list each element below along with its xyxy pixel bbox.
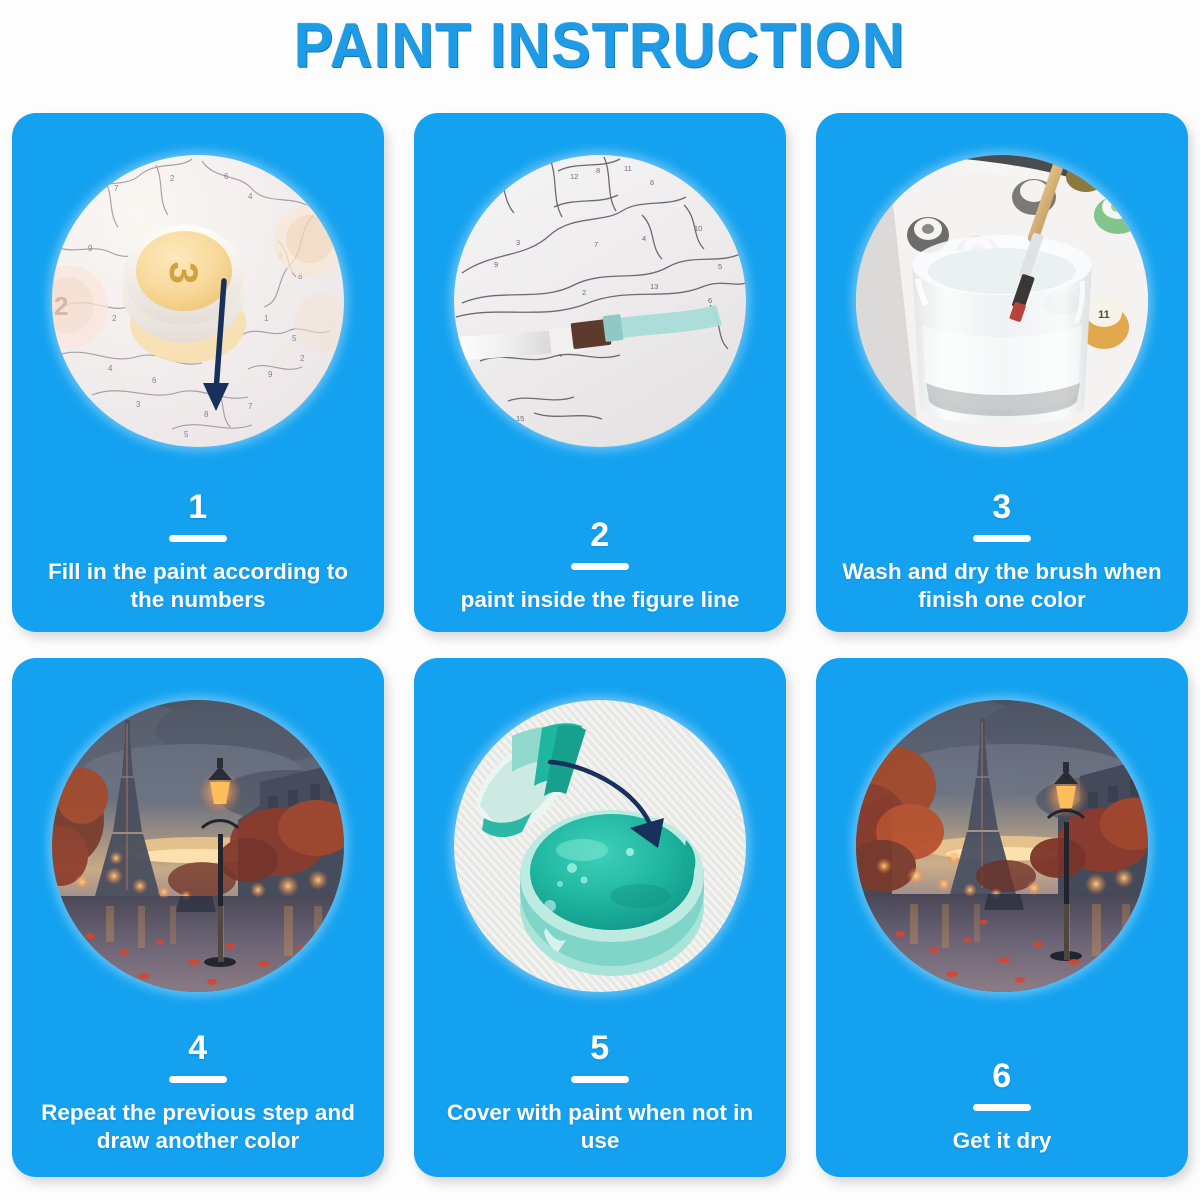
step-card-4[interactable]: 4 Repeat the previous step and draw anot… bbox=[12, 658, 384, 1177]
step-number: 3 bbox=[992, 490, 1011, 524]
step-card-5[interactable]: 5 Cover with paint when not in use bbox=[414, 658, 786, 1177]
step-1-meta: 1 Fill in the paint according to the num… bbox=[12, 490, 384, 614]
step-2-photo: 128 116 39 74 105 213 69 415 73 bbox=[454, 155, 746, 447]
step-6-photo bbox=[856, 700, 1148, 992]
svg-text:7: 7 bbox=[114, 184, 119, 193]
paint-pot-illustration bbox=[454, 700, 746, 992]
step-card-2[interactable]: 128 116 39 74 105 213 69 415 73 bbox=[414, 113, 786, 632]
step-5-photo bbox=[454, 700, 746, 992]
svg-text:4: 4 bbox=[248, 192, 253, 201]
brush-illustration: 128 116 39 74 105 213 69 415 73 bbox=[454, 155, 746, 447]
pot-number-label: 3 bbox=[161, 261, 206, 285]
svg-text:2: 2 bbox=[54, 291, 68, 321]
step-card-3[interactable]: 11 bbox=[816, 113, 1188, 632]
svg-text:9: 9 bbox=[268, 370, 273, 379]
step-divider bbox=[169, 535, 227, 542]
svg-text:13: 13 bbox=[650, 282, 658, 291]
step-divider bbox=[571, 563, 629, 570]
svg-text:12: 12 bbox=[570, 172, 578, 181]
step-divider bbox=[973, 1104, 1031, 1111]
svg-text:7: 7 bbox=[248, 402, 253, 411]
svg-text:2: 2 bbox=[582, 288, 586, 297]
step-4-photo-wrap bbox=[52, 700, 344, 992]
step-number: 2 bbox=[590, 518, 609, 552]
step-divider bbox=[571, 1076, 629, 1083]
step-caption: Repeat the previous step and draw anothe… bbox=[33, 1099, 363, 1155]
step-3-photo-wrap: 11 bbox=[856, 155, 1148, 447]
step-card-6[interactable]: 6 Get it dry bbox=[816, 658, 1188, 1177]
step-caption: paint inside the figure line bbox=[461, 586, 740, 614]
steps-grid: 72 64 95 38 27 15 46 92 38 75 bbox=[12, 113, 1188, 1185]
svg-text:8: 8 bbox=[596, 166, 600, 175]
svg-text:3: 3 bbox=[678, 428, 682, 437]
svg-text:11: 11 bbox=[1098, 309, 1110, 321]
svg-text:2: 2 bbox=[170, 174, 175, 183]
page-title: PAINT INSTRUCTION bbox=[294, 10, 906, 82]
svg-text:6: 6 bbox=[152, 376, 157, 385]
step-4-photo bbox=[52, 700, 344, 992]
svg-text:4: 4 bbox=[642, 234, 646, 243]
svg-text:4: 4 bbox=[108, 364, 113, 373]
svg-text:9: 9 bbox=[494, 260, 498, 269]
step-6-meta: 6 Get it dry bbox=[816, 1059, 1188, 1155]
svg-text:6: 6 bbox=[650, 178, 654, 187]
svg-text:5: 5 bbox=[292, 334, 297, 343]
paint-instruction-poster: PAINT INSTRUCTION bbox=[0, 0, 1200, 1199]
step-3-meta: 3 Wash and dry the brush when finish one… bbox=[816, 490, 1188, 614]
step-5-meta: 5 Cover with paint when not in use bbox=[414, 1031, 786, 1155]
svg-text:2: 2 bbox=[300, 354, 305, 363]
svg-text:3: 3 bbox=[516, 238, 520, 247]
svg-text:10: 10 bbox=[694, 224, 702, 233]
water-glass bbox=[912, 235, 1092, 425]
step-6-photo-wrap bbox=[856, 700, 1148, 992]
step-number: 1 bbox=[188, 490, 207, 524]
svg-text:9: 9 bbox=[88, 244, 93, 253]
step-caption: Cover with paint when not in use bbox=[435, 1099, 765, 1155]
step-card-1[interactable]: 72 64 95 38 27 15 46 92 38 75 bbox=[12, 113, 384, 632]
svg-text:7: 7 bbox=[722, 406, 726, 415]
step-4-meta: 4 Repeat the previous step and draw anot… bbox=[12, 1031, 384, 1155]
step-1-photo-wrap: 72 64 95 38 27 15 46 92 38 75 bbox=[52, 155, 344, 447]
svg-text:6: 6 bbox=[224, 172, 229, 181]
paris-painting-illustration-6 bbox=[856, 700, 1148, 992]
step-caption: Fill in the paint according to the numbe… bbox=[33, 558, 363, 614]
svg-text:7: 7 bbox=[594, 240, 598, 249]
svg-text:11: 11 bbox=[624, 164, 632, 173]
step-number: 4 bbox=[188, 1031, 207, 1065]
paint-brush-icon bbox=[454, 314, 624, 361]
svg-text:5: 5 bbox=[718, 262, 722, 271]
svg-text:8: 8 bbox=[204, 410, 209, 419]
glass-water-illustration: 11 bbox=[856, 155, 1148, 447]
step-caption: Get it dry bbox=[953, 1127, 1052, 1155]
step-divider bbox=[973, 535, 1031, 542]
step-2-photo-wrap: 128 116 39 74 105 213 69 415 73 bbox=[454, 155, 746, 447]
paint-pots-illustration: 72 64 95 38 27 15 46 92 38 75 bbox=[52, 155, 344, 447]
step-caption: Wash and dry the brush when finish one c… bbox=[837, 558, 1167, 614]
svg-text:15: 15 bbox=[516, 414, 524, 423]
svg-text:3: 3 bbox=[136, 400, 141, 409]
title-bar: PAINT INSTRUCTION bbox=[0, 0, 1200, 92]
paint-pot bbox=[520, 810, 704, 976]
step-3-photo: 11 bbox=[856, 155, 1148, 447]
svg-text:5: 5 bbox=[184, 430, 189, 439]
step-1-photo: 72 64 95 38 27 15 46 92 38 75 bbox=[52, 155, 344, 447]
step-5-photo-wrap bbox=[454, 700, 746, 992]
step-number: 5 bbox=[590, 1031, 609, 1065]
paris-painting-illustration-4 bbox=[52, 700, 344, 992]
svg-text:2: 2 bbox=[112, 314, 117, 323]
svg-text:1: 1 bbox=[264, 314, 269, 323]
step-2-meta: 2 paint inside the figure line bbox=[414, 518, 786, 614]
svg-text:6: 6 bbox=[708, 296, 712, 305]
step-divider bbox=[169, 1076, 227, 1083]
step-number: 6 bbox=[992, 1059, 1011, 1093]
